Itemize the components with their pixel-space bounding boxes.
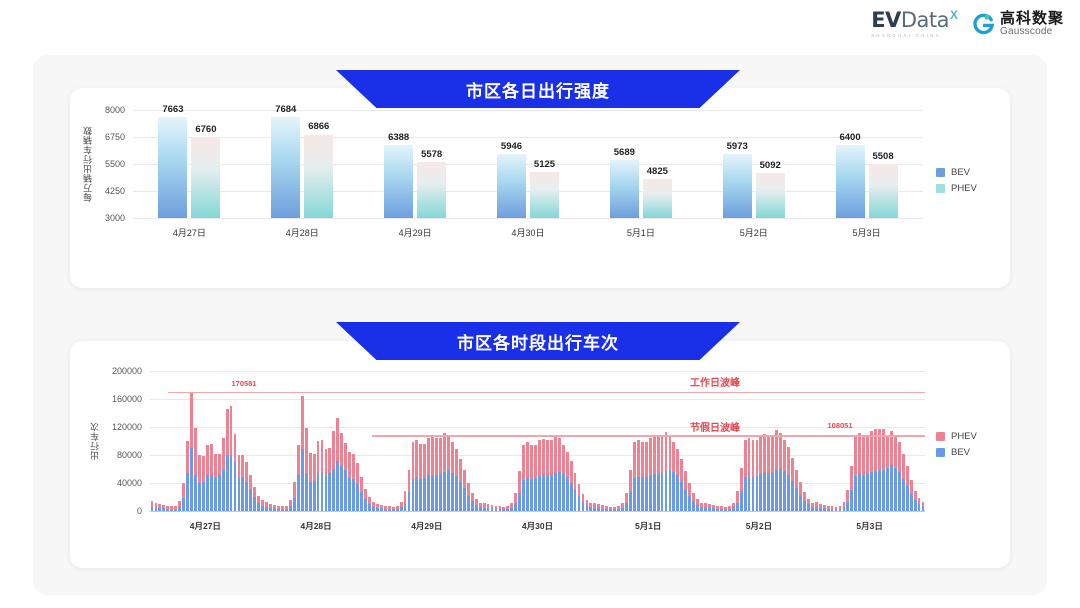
chart2-bar-segment-bev: [534, 478, 537, 511]
chart1-bar-value-bev: 6400: [839, 132, 860, 143]
chart2-bar-segment-bev: [174, 509, 177, 511]
chart2-bar-segment-bev: [720, 509, 723, 511]
chart2-bar-segment-phev: [740, 468, 743, 491]
chart2-stacked-bar: [645, 442, 648, 511]
chart2-bar-segment-bev: [506, 509, 509, 511]
chart2-stacked-bar: [779, 433, 782, 511]
chart2-bar-segment-bev: [756, 476, 759, 511]
chart2-bar-segment-phev: [566, 452, 569, 477]
chart2-bar-segment-phev: [325, 449, 328, 476]
chart2-stacked-bar: [850, 466, 853, 512]
chart2-bar-segment-bev: [700, 507, 703, 511]
chart2-stacked-bar: [918, 498, 921, 511]
chart2-stacked-bar: [787, 447, 790, 511]
chart2-bar-segment-bev: [874, 471, 877, 511]
chart2-bar-segment-phev: [688, 483, 691, 496]
chart1-legend-swatch: [936, 184, 945, 193]
chart2-bar-segment-bev: [649, 475, 652, 511]
chart1-bar-value-bev: 7663: [162, 104, 183, 115]
chart2-x-tick: 4月27日: [190, 520, 221, 532]
chart2-stacked-bar: [435, 438, 438, 512]
chart2-stacked-bar: [720, 506, 723, 511]
chart2-stacked-bar: [759, 435, 762, 511]
chart2-stacked-bar: [234, 434, 237, 511]
chart2-bar-segment-bev: [582, 502, 585, 511]
chart2-stacked-bar: [811, 503, 814, 511]
chart1-y-tick: 5500: [105, 159, 125, 169]
chart2-stacked-bar: [839, 506, 842, 511]
chart2-bar-segment-bev: [696, 505, 699, 511]
chart2-bar-segment-bev: [435, 475, 438, 511]
chart2-stacked-bar: [226, 409, 229, 511]
chart2-bar-segment-bev: [198, 483, 201, 511]
chart2-stacked-bar: [716, 506, 719, 511]
chart2-stacked-bar: [443, 433, 446, 511]
chart2-bar-segment-phev: [665, 432, 668, 471]
chart2-bar-segment-bev: [676, 475, 679, 511]
chart2-stacked-bar: [352, 454, 355, 511]
chart2-bar-segment-bev: [684, 489, 687, 511]
chart2-stacked-bar: [289, 500, 292, 511]
chart2-bar-segment-phev: [431, 437, 434, 475]
chart2-bar-segment-bev: [570, 483, 573, 511]
chart2-bar-segment-phev: [439, 438, 442, 474]
chart2-stacked-bar: [886, 435, 889, 511]
chart2-bar-segment-bev: [305, 473, 308, 511]
chart2-bar-segment-phev: [352, 454, 355, 479]
chart2-bar-segment-bev: [340, 466, 343, 511]
chart2-bar-segment-bev: [190, 448, 193, 511]
chart2-stacked-bar: [601, 505, 604, 511]
chart2-bar-segment-bev: [155, 508, 158, 512]
chart2-bar-segment-bev: [206, 475, 209, 511]
chart2-bar-segment-bev: [767, 473, 770, 511]
chart2-bar-segment-phev: [471, 493, 474, 501]
chart2-bar-segment-bev: [566, 477, 569, 511]
chart2-stacked-bar: [427, 438, 430, 511]
chart2-stacked-bar: [190, 392, 193, 511]
chart2-stacked-bar: [882, 429, 885, 511]
chart2-bar-segment-phev: [328, 448, 331, 473]
chart2-x-tick: 5月3日: [856, 520, 882, 532]
chart2-stacked-bar: [178, 501, 181, 511]
chart2-bar-segment-phev: [763, 434, 766, 473]
chart2-bar-segment-phev: [249, 475, 252, 490]
chart2-stacked-bar: [396, 506, 399, 511]
chart2-stacked-bar: [803, 492, 806, 511]
chart2-bar-segment-bev: [775, 470, 778, 511]
chart2-stacked-bar: [455, 449, 458, 511]
chart2-legend-item: BEV: [936, 447, 977, 458]
chart2-stacked-bar: [487, 504, 490, 511]
chart2-bar-segment-bev: [846, 502, 849, 511]
chart2-y-tick: 160000: [112, 394, 142, 404]
chart2-bar-segment-phev: [423, 444, 426, 478]
chart2-bar-segment-phev: [222, 438, 225, 471]
chart2-bar-segment-phev: [301, 396, 304, 449]
chart1-bar-phev: [530, 172, 559, 218]
chart2-stacked-bar: [578, 484, 581, 511]
chart2-bar-segment-phev: [332, 431, 335, 470]
chart2-bar-segment-phev: [680, 459, 683, 481]
chart1-bar-value-phev: 5578: [421, 149, 442, 160]
chart2-bar-segment-bev: [578, 496, 581, 511]
chart2-bar-segment-bev: [253, 497, 256, 511]
chart2-bar-segment-phev: [795, 470, 798, 488]
chart2-bar-segment-bev: [890, 465, 893, 511]
chart2-stacked-bar: [752, 440, 755, 511]
chart2-bar-segment-bev: [716, 509, 719, 511]
chart2-bar-segment-phev: [344, 443, 347, 470]
chart1-x-tick: 4月27日: [173, 226, 206, 239]
chart2-stacked-bar: [269, 504, 272, 511]
chart2-bar-segment-bev: [787, 475, 790, 511]
chart2-bar-segment-bev: [862, 475, 865, 511]
chart2-stacked-bar: [538, 440, 541, 511]
chart2-stacked-bar: [514, 493, 517, 511]
chart2-stacked-bar: [688, 483, 691, 511]
chart2-stacked-bar: [392, 507, 395, 511]
chart2-bar-segment-bev: [423, 478, 426, 511]
chart2-x-tick: 5月2日: [746, 520, 772, 532]
chart2-bar-segment-phev: [348, 452, 351, 479]
chart2-legend-swatch: [936, 448, 945, 457]
chart2-bar-segment-phev: [534, 445, 537, 478]
chart2-bar-segment-phev: [313, 454, 316, 481]
chart1-gridline: [133, 110, 923, 111]
chart2-bar-segment-bev: [210, 475, 213, 511]
chart2-bar-segment-bev: [530, 479, 533, 511]
chart2-bar-segment-bev: [759, 474, 762, 511]
chart2-annotation-line-holiday: [372, 435, 925, 437]
chart2-bar-segment-phev: [799, 482, 802, 495]
gausscode-g-icon: [972, 13, 995, 36]
chart2-bar-segment-phev: [546, 440, 549, 476]
chart2-bar-segment-bev: [412, 479, 415, 511]
chart2-bar-segment-phev: [870, 431, 873, 472]
chart2-bar-segment-bev: [479, 507, 482, 511]
chart1-bar-bev: [836, 145, 865, 218]
chart2-stacked-bar: [661, 437, 664, 511]
chart2-stacked-bar: [831, 506, 834, 511]
chart2-bar-segment-bev: [447, 470, 450, 511]
chart2-bar-segment-bev: [502, 509, 505, 511]
chart2-bar-segment-phev: [641, 442, 644, 477]
chart2-stacked-bar: [174, 506, 177, 511]
chart2-bar-segment-phev: [408, 470, 411, 492]
chart2-bar-segment-bev: [728, 509, 731, 511]
chart2-bar-segment-bev: [352, 479, 355, 511]
chart2-stacked-bar: [467, 483, 470, 511]
chart2-stacked-bar: [265, 502, 268, 511]
chart2-bar-segment-bev: [186, 473, 189, 512]
chart2-bar-segment-bev: [732, 507, 735, 511]
chart2-bar-segment-bev: [170, 509, 173, 511]
chart2-bar-segment-phev: [518, 471, 521, 493]
chart2-stacked-bar: [423, 444, 426, 511]
chart2-bar-segment-bev: [704, 507, 707, 511]
chart2-bar-segment-bev: [740, 491, 743, 511]
chart2-stacked-bar: [605, 506, 608, 511]
chart2-bar-segment-bev: [522, 480, 525, 512]
chart2-bar-segment-bev: [562, 474, 565, 511]
chart2-bar-segment-phev: [538, 440, 541, 476]
chart2-stacked-bar: [704, 503, 707, 511]
chart2-stacked-bar: [562, 445, 565, 511]
chart2-stacked-bar: [388, 506, 391, 511]
chart2-bar-segment-phev: [692, 493, 695, 501]
chart2-stacked-bar: [400, 502, 403, 511]
chart2-bar-segment-bev: [791, 481, 794, 511]
chart-daily-intensity: 每万辆出行车辆数30004250550067508000766367604月27…: [133, 110, 923, 218]
chart2-stacked-bar: [665, 432, 668, 511]
chart2-bar-segment-bev: [902, 479, 905, 511]
chart2-bar-segment-bev: [593, 508, 596, 512]
chart2-bar-segment-phev: [522, 445, 525, 480]
chart2-stacked-bar: [471, 493, 474, 511]
chart2-bar-segment-phev: [736, 491, 739, 502]
chart2-stacked-bar: [799, 482, 802, 511]
chart2-bar-segment-phev: [672, 442, 675, 472]
chart2-bar-segment-phev: [661, 437, 664, 473]
chart2-stacked-bar: [767, 435, 770, 511]
chart2-stacked-bar: [439, 438, 442, 512]
chart2-stacked-bar: [878, 429, 881, 511]
chart2-bar-segment-bev: [162, 508, 165, 511]
chart2-bar-segment-bev: [325, 475, 328, 511]
chart2-bar-segment-bev: [823, 508, 826, 511]
chart2-bar-segment-bev: [234, 462, 237, 511]
chart2-bar-segment-bev: [309, 482, 312, 511]
chart2-stacked-bar: [700, 503, 703, 511]
chart2-bar-segment-phev: [854, 437, 857, 476]
chart2-stacked-bar: [491, 505, 494, 511]
chart2-bar-segment-bev: [645, 477, 648, 511]
chart2-bar-segment-bev: [356, 484, 359, 511]
chart2-bar-segment-phev: [653, 436, 656, 474]
chart2-stacked-bar: [408, 470, 411, 511]
chart2-bar-segment-bev: [182, 498, 185, 511]
chart2-stacked-bar: [712, 505, 715, 511]
chart2-bar-segment-bev: [408, 492, 411, 511]
chart2-bar-segment-phev: [190, 392, 193, 448]
chart2-stacked-bar: [198, 455, 201, 511]
chart2-bar-segment-bev: [158, 508, 161, 511]
chart2-bar-segment-phev: [210, 444, 213, 475]
chart2-bar-segment-bev: [807, 504, 810, 511]
chart2-bar-segment-bev: [538, 476, 541, 511]
chart2-stacked-bar: [238, 455, 241, 511]
chart2-stacked-bar: [550, 440, 553, 511]
chart2-stacked-bar: [218, 454, 221, 511]
chart2-stacked-bar: [170, 506, 173, 511]
chart2-bar-segment-bev: [301, 449, 304, 511]
chart2-bar-segment-phev: [582, 494, 585, 502]
chart2-bar-segment-bev: [495, 509, 498, 511]
chart2-bar-segment-phev: [649, 438, 652, 475]
chart2-bar-segment-bev: [922, 506, 925, 511]
chart2-bar-segment-bev: [886, 468, 889, 511]
chart2-bar-segment-bev: [866, 474, 869, 511]
chart2-stacked-bar: [166, 506, 169, 511]
chart2-stacked-bar: [680, 459, 683, 511]
chart2-bar-segment-bev: [894, 468, 897, 511]
chart2-bar-segment-phev: [759, 435, 762, 474]
chart2-stacked-bar: [858, 433, 861, 511]
chart2-bar-segment-phev: [309, 453, 312, 482]
chart2-bar-segment-bev: [633, 478, 636, 511]
chart2-stacked-bar: [158, 504, 161, 511]
chart2-bar-segment-bev: [257, 503, 260, 511]
chart2-stacked-bar: [625, 493, 628, 511]
chart2-bar-segment-bev: [858, 474, 861, 511]
chart2-bar-segment-bev: [376, 508, 379, 511]
chart2-bar-segment-bev: [166, 509, 169, 511]
chart1-gridline: [133, 218, 923, 219]
chart2-stacked-bar: [914, 491, 917, 511]
chart2-bar-segment-phev: [574, 473, 577, 490]
chart2-bar-segment-bev: [835, 509, 838, 511]
chart2-stacked-bar: [629, 470, 632, 511]
chart2-stacked-bar: [155, 503, 158, 511]
chart1-bar-bev: [384, 145, 413, 218]
chart1-bar-value-phev: 5092: [760, 160, 781, 171]
chart2-bar-segment-bev: [518, 493, 521, 511]
chart2-bar-segment-bev: [431, 475, 434, 511]
chart2-bar-segment-bev: [348, 478, 351, 511]
chart2-bar-segment-phev: [645, 442, 648, 476]
chart2-stacked-bar: [542, 439, 545, 511]
chart2-bar-segment-phev: [625, 493, 628, 504]
chart1-bar-value-bev: 5973: [727, 141, 748, 152]
chart2-bar-segment-bev: [344, 470, 347, 511]
chart2-stacked-bar: [862, 436, 865, 511]
chart2-bar-segment-phev: [321, 440, 324, 473]
chart2-bar-segment-bev: [882, 470, 885, 511]
chart2-stacked-bar: [206, 445, 209, 511]
chart2-stacked-bar: [293, 482, 296, 511]
chart2-stacked-bar: [194, 428, 197, 511]
evdata-logo-ev: EV: [871, 8, 901, 32]
chart2-bar-segment-phev: [846, 490, 849, 502]
chart2-stacked-bar: [554, 435, 557, 511]
chart2-stacked-bar: [301, 396, 304, 511]
chart2-stacked-bar: [230, 406, 233, 511]
chart1-bar-value-phev: 5125: [534, 159, 555, 170]
chart1-legend-label: PHEV: [951, 183, 977, 194]
chart2-bar-segment-bev: [831, 509, 834, 511]
chart2-bar-segment-bev: [491, 508, 494, 511]
chart2-bar-segment-bev: [514, 503, 517, 511]
chart2-bar-segment-bev: [669, 470, 672, 511]
chart2-bar-segment-bev: [510, 508, 513, 512]
chart2-stacked-bar: [763, 434, 766, 511]
chart2-stacked-bar: [771, 435, 774, 511]
chart2-peak-value-108051: 108051: [827, 421, 852, 430]
chart2-stacked-bar: [360, 477, 363, 511]
chart2-bar-segment-phev: [676, 449, 679, 476]
chart2-stacked-bar: [506, 506, 509, 511]
chart2-bar-segment-bev: [396, 509, 399, 511]
chart2-bar-segment-bev: [629, 492, 632, 511]
chart1-y-tick: 8000: [105, 105, 125, 115]
chart2-bar-segment-phev: [451, 442, 454, 472]
chart2-x-tick: 5月1日: [635, 520, 661, 532]
chart1-y-tick: 4250: [105, 186, 125, 196]
chart2-bar-segment-bev: [918, 504, 921, 511]
chart2-bar-segment-bev: [878, 470, 881, 511]
chart2-stacked-bar: [870, 431, 873, 511]
chart2-bar-segment-phev: [550, 440, 553, 475]
chart1-bar-value-phev: 6760: [195, 124, 216, 135]
chart2-bar-segment-phev: [684, 471, 687, 489]
chart2-bar-segment-bev: [332, 469, 335, 511]
chart2-stacked-bar: [502, 507, 505, 511]
gausscode-name-cn: 高科数聚: [1000, 11, 1064, 27]
chart2-bar-segment-bev: [914, 500, 917, 511]
chart2-bar-segment-phev: [293, 482, 296, 498]
chart2-stacked-bar: [791, 458, 794, 511]
chart2-stacked-bar: [890, 431, 893, 511]
chart2-bar-segment-phev: [198, 455, 201, 483]
chart2-stacked-bar: [412, 442, 415, 511]
chart2-stacked-bar: [182, 483, 185, 511]
chart2-bar-segment-phev: [218, 454, 221, 475]
chart2-stacked-bar: [819, 504, 822, 511]
chart2-bar-segment-phev: [427, 438, 430, 475]
chart2-bar-segment-bev: [692, 501, 695, 511]
chart2-bar-segment-phev: [234, 434, 237, 462]
chart-legend-1: BEVPHEV: [936, 167, 977, 194]
chart2-legend-label: BEV: [951, 447, 970, 458]
chart1-x-tick: 5月3日: [853, 226, 881, 239]
chart2-bar-segment-bev: [226, 455, 229, 511]
chart2-bar-segment-bev: [605, 509, 608, 511]
chart2-bar-segment-phev: [886, 435, 889, 467]
chart2-bar-segment-phev: [558, 438, 561, 472]
chart-hourly-trips: 出行车次040000800001200001600002000004月27日4月…: [150, 371, 925, 511]
chart2-stacked-bar: [795, 470, 798, 511]
chart2-bar-segment-phev: [783, 440, 786, 472]
chart2-bar-segment-phev: [368, 497, 371, 504]
chart2-bar-segment-bev: [574, 489, 577, 511]
evdata-logo: EVData X shanghai china: [871, 10, 958, 38]
chart2-bar-segment-bev: [328, 473, 331, 511]
chart2-bar-segment-bev: [724, 509, 727, 511]
chart2-bar-segment-phev: [364, 489, 367, 500]
chart2-stacked-bar: [344, 443, 347, 511]
chart2-bar-segment-phev: [412, 442, 415, 478]
chart2-bar-segment-phev: [317, 441, 320, 473]
chart2-stacked-bar: [404, 491, 407, 511]
chart2-stacked-bar: [518, 471, 521, 511]
chart2-stacked-bar: [241, 455, 244, 511]
chart2-stacked-bar: [728, 506, 731, 511]
chart2-stacked-bar: [530, 445, 533, 511]
chart2-stacked-bar: [748, 438, 751, 512]
chart2-stacked-bar: [589, 503, 592, 511]
chart2-bar-segment-bev: [708, 508, 711, 511]
chart2-gridline: [150, 371, 925, 372]
chart2-stacked-bar: [827, 506, 830, 511]
chart1-gridline: [133, 164, 923, 165]
chart2-stacked-bar: [372, 502, 375, 511]
chart2-bar-segment-phev: [554, 435, 557, 473]
chart2-bar-segment-bev: [380, 508, 383, 511]
chart2-bar-segment-bev: [388, 509, 391, 511]
chart2-bar-segment-bev: [285, 509, 288, 511]
chart2-stacked-bar: [253, 487, 256, 511]
